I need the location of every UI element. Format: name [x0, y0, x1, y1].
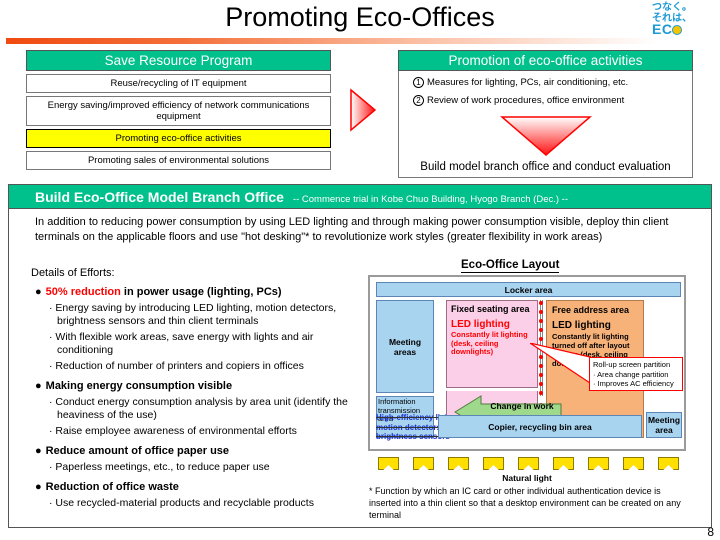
window-icon — [518, 457, 539, 470]
promotion-item-2-number: 2 — [413, 95, 424, 106]
model-branch-header-main: Build Eco-Office Model Branch Office — [35, 189, 284, 205]
meeting-areas-box: Meeting areas — [376, 300, 434, 393]
promotion-item-1-number: 1 — [413, 77, 424, 88]
fixed-seating-led-label: LED lighting — [451, 319, 537, 330]
callout-title: Roll-up screen partition — [593, 360, 682, 370]
window-icon — [448, 457, 469, 470]
natural-light-window-row — [378, 457, 678, 473]
eco-logo-circle-icon — [672, 25, 682, 35]
bullet-sub-text: Conduct energy consumption analysis by a… — [55, 396, 347, 421]
bullet-sub: · Paperless meetings, etc., to reduce pa… — [49, 461, 365, 474]
callout-bullet-2: · Improves AC efficiency — [593, 379, 682, 389]
bullet-sub: · Conduct energy consumption analysis by… — [49, 396, 365, 422]
locker-area-box: Locker area — [376, 282, 681, 297]
window-icon — [553, 457, 574, 470]
page-number: 8 — [707, 525, 714, 539]
copier-recycling-bin-area-box: Copier, recycling bin area — [438, 415, 642, 438]
bullet-dot-icon: ● — [35, 481, 42, 493]
right-arrow-icon — [349, 88, 377, 132]
promotion-activities-body: 1Measures for lighting, PCs, air conditi… — [398, 71, 693, 178]
bullet-sub: · Raise employee awareness of environmen… — [49, 425, 365, 438]
save-resource-program-panel: Save Resource Program Reuse/recycling of… — [26, 50, 331, 170]
bullet-head-visible-consumption-text: Making energy consumption visible — [46, 380, 232, 392]
fixed-seating-header: Fixed seating area — [451, 304, 537, 314]
free-address-header: Free address area — [552, 305, 643, 315]
save-resource-program-header: Save Resource Program — [26, 50, 331, 71]
meeting-areas-line1: Meeting — [389, 337, 421, 347]
window-icon — [378, 457, 399, 470]
program-item-reuse[interactable]: Reuse/recycling of IT equipment — [26, 74, 331, 93]
eco-office-layout-title: Eco-Office Layout — [461, 259, 559, 273]
meeting-area-right-box: Meeting area — [646, 412, 682, 438]
model-branch-header: Build Eco-Office Model Branch Office-- C… — [9, 185, 711, 209]
window-icon — [413, 457, 434, 470]
promotion-item-1: 1Measures for lighting, PCs, air conditi… — [413, 77, 692, 88]
bullet-dot-icon: ● — [35, 380, 42, 392]
eco-office-layout-diagram: Locker area Meeting areas Information tr… — [368, 275, 686, 451]
bullet-sub-text: Reduction of number of printers and copi… — [55, 360, 303, 372]
promotion-item-1-label: Measures for lighting, PCs, air conditio… — [427, 77, 628, 88]
bullet-sub: · With flexible work areas, save energy … — [49, 331, 365, 357]
bullet-sub-text: Raise employee awareness of environmenta… — [55, 425, 296, 437]
callout-bullet-1: · Area change partition — [593, 370, 682, 380]
promotion-activities-panel: Promotion of eco-office activities 1Meas… — [398, 50, 693, 178]
program-item-energy-saving[interactable]: Energy saving/improved efficiency of net… — [26, 96, 331, 126]
promotion-activities-header: Promotion of eco-office activities — [398, 50, 693, 71]
bullet-sub: · Use recycled-material products and rec… — [49, 497, 365, 510]
bullet-head-paper-use: ●Reduce amount of office paper use — [35, 444, 365, 458]
fixed-seating-detail: Constantly lit lighting (desk, ceiling d… — [451, 331, 537, 357]
fixed-seating-area-box: Fixed seating area LED lighting Constant… — [446, 300, 538, 388]
intro-paragraph: In addition to reducing power consumptio… — [35, 215, 695, 244]
bullet-head-office-waste-text: Reduction of office waste — [46, 481, 179, 493]
promotion-item-2: 2Review of work procedures, office envir… — [413, 95, 692, 106]
bullet-dot-icon: ● — [35, 286, 42, 298]
bullet-sub-text: With flexible work areas, save energy wi… — [55, 331, 313, 356]
details-of-efforts-label: Details of Efforts: — [31, 267, 115, 279]
title-divider — [6, 38, 716, 44]
bullet-sub-text: Use recycled-material products and recyc… — [55, 497, 314, 509]
meeting-areas-line2: areas — [394, 347, 416, 357]
free-address-led-label: LED lighting — [552, 320, 643, 331]
bullet-sub: · Energy saving by introducing LED light… — [49, 302, 365, 328]
program-item-eco-office[interactable]: Promoting eco-office activities — [26, 129, 331, 148]
eco-logo: つなく。 それは、 EC — [652, 2, 714, 35]
bullet-sub-text: Paperless meetings, etc., to reduce pape… — [55, 461, 269, 473]
promotion-activities-footer: Build model branch office and conduct ev… — [399, 161, 692, 173]
window-icon — [623, 457, 644, 470]
hot-desking-footnote: * Function by which an IC card or other … — [369, 485, 694, 521]
program-item-sales[interactable]: Promoting sales of environmental solutio… — [26, 151, 331, 170]
eco-office-model-panel: Build Eco-Office Model Branch Office-- C… — [8, 184, 712, 528]
bullet-dot-icon: ● — [35, 445, 42, 457]
bullet-head-visible-consumption: ●Making energy consumption visible — [35, 379, 365, 393]
bullet-sub: · Reduction of number of printers and co… — [49, 360, 365, 373]
window-icon — [483, 457, 504, 470]
bullet-head-power-usage-red: 50% reduction — [46, 286, 121, 298]
bullet-head-power-usage: ●50% reduction in power usage (lighting,… — [35, 285, 365, 299]
eco-logo-line3: EC — [652, 24, 714, 35]
natural-light-label: Natural light — [368, 473, 686, 483]
model-branch-header-sub: -- Commence trial in Kobe Chuo Building,… — [293, 194, 568, 205]
roll-up-screen-partition-callout: Roll-up screen partition · Area change p… — [589, 357, 683, 391]
page-title: Promoting Eco-Offices — [0, 2, 720, 33]
down-arrow-icon — [500, 115, 592, 157]
bullet-head-office-waste: ●Reduction of office waste — [35, 480, 365, 494]
bullet-head-power-usage-rest: in power usage (lighting, PCs) — [121, 286, 282, 298]
window-icon — [588, 457, 609, 470]
promotion-item-2-label: Review of work procedures, office enviro… — [427, 95, 624, 106]
efforts-bullet-list: ●50% reduction in power usage (lighting,… — [35, 285, 365, 510]
bullet-sub-text: Energy saving by introducing LED lightin… — [55, 302, 336, 327]
window-icon — [658, 457, 679, 470]
bullet-head-paper-use-text: Reduce amount of office paper use — [46, 445, 229, 457]
eco-logo-line1: つなく。 — [652, 2, 714, 13]
